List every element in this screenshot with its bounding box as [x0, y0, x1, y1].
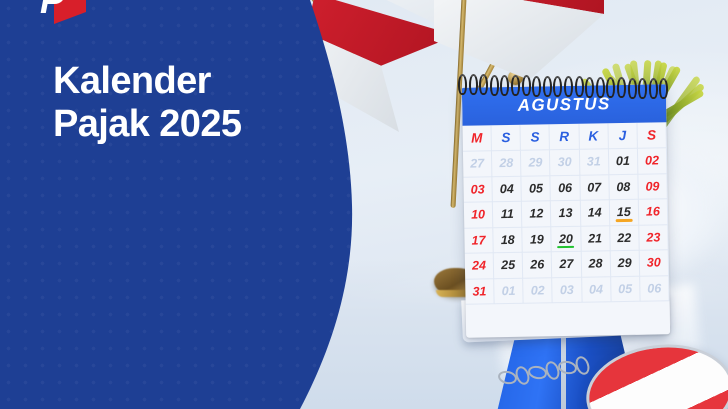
spiral-ring [543, 76, 552, 97]
calendar-day-cell: 05 [611, 276, 641, 302]
calendar-day-cell: 01 [609, 149, 639, 175]
calendar-day-cell: 24 [465, 253, 495, 279]
spiral-ring [585, 77, 594, 98]
calendar-day-cell: 01 [494, 278, 524, 304]
calendar-day-cell: 23 [639, 225, 669, 251]
spiral-ring [564, 76, 573, 97]
calendar-day-cell: 14 [580, 200, 610, 226]
spiral-ring [490, 75, 499, 96]
calendar-dow-6: S [637, 122, 667, 149]
calendar-day-cell: 30 [640, 250, 670, 276]
calendar-day-cell: 12 [522, 201, 552, 227]
calendar-day-cell: 02 [523, 278, 553, 304]
pajakku-logo[interactable]: P [40, 0, 86, 30]
calendar-day-cell: 03 [463, 177, 493, 203]
logo-letter: P [40, 0, 74, 24]
calendar-day-cell: 11 [493, 202, 523, 228]
spiral-ring [628, 78, 637, 99]
calendar-dow-4: K [579, 123, 609, 150]
calendar-day-cell: 03 [553, 277, 583, 303]
spiral-ring [553, 76, 562, 97]
page-title-line1: Kalender [53, 60, 353, 103]
calendar-day-cell: 06 [640, 276, 670, 302]
spiral-ring [458, 74, 467, 95]
spiral-ring [638, 78, 647, 99]
calendar-day-cell: 09 [638, 174, 668, 200]
calendar-day-cell: 28 [581, 251, 611, 277]
calendar-day-cell: 17 [464, 228, 494, 254]
calendar-day-cell: 29 [521, 150, 551, 176]
calendar-grid: MSSRKJS272829303101020304050607080910111… [462, 122, 669, 305]
calendar-dow-5: J [608, 123, 638, 150]
calendar-day-cell: 05 [522, 176, 552, 202]
page-title-line2: Pajak 2025 [53, 103, 353, 146]
spiral-ring [532, 76, 541, 97]
page-title: Kalender Pajak 2025 [53, 60, 353, 145]
calendar-day-cell: 29 [610, 251, 640, 277]
calendar-day-cell: 20 [552, 226, 582, 252]
calendar-day-cell: 13 [551, 201, 581, 227]
calendar-day-cell: 18 [493, 227, 523, 253]
calendar-day-cell: 31 [465, 279, 495, 305]
calendar-day-cell: 31 [579, 149, 609, 175]
calendar-card: AGUSTUS MSSRKJS2728293031010203040506070… [462, 84, 670, 338]
calendar-day-cell: 27 [552, 252, 582, 278]
spiral-ring [469, 74, 478, 95]
calendar-day-cell: 22 [610, 225, 640, 251]
spiral-ring [659, 78, 668, 99]
calendar-day-cell: 16 [639, 199, 669, 225]
calendar-dow-3: R [550, 124, 580, 151]
calendar-day-cell: 07 [580, 175, 610, 201]
calendar-day-cell: 27 [463, 151, 493, 177]
calendar-day-cell: 06 [551, 175, 581, 201]
spiral-ring [617, 77, 626, 98]
calendar-day-cell: 30 [550, 150, 580, 176]
calendar-day-cell: 10 [464, 202, 494, 228]
spiral-ring [575, 76, 584, 97]
calendar-dow-0: M [462, 125, 492, 152]
calendar-day-cell: 26 [523, 252, 553, 278]
calendar-dow-1: S [492, 125, 522, 152]
spiral-ring [500, 75, 509, 96]
calendar-day-cell: 04 [582, 277, 612, 303]
calendar-day-cell: 04 [493, 176, 523, 202]
desk-calendar: AGUSTUS MSSRKJS2728293031010203040506070… [432, 68, 700, 368]
calendar-day-cell: 15 [610, 200, 640, 226]
calendar-dow-2: S [521, 124, 551, 151]
calendar-day-cell: 02 [638, 148, 668, 174]
spiral-ring [649, 78, 658, 99]
chain-link [573, 354, 592, 376]
spiral-binding [458, 74, 672, 98]
spiral-ring [522, 75, 531, 96]
calendar-day-cell: 25 [494, 253, 524, 279]
calendar-day-cell: 21 [581, 226, 611, 252]
spiral-ring [511, 75, 520, 96]
calendar-day-cell: 28 [492, 151, 522, 177]
calendar-day-cell: 08 [609, 174, 639, 200]
spiral-ring [596, 77, 605, 98]
spiral-ring [479, 74, 488, 95]
spiral-ring [606, 77, 615, 98]
calendar-day-cell: 19 [523, 227, 553, 253]
